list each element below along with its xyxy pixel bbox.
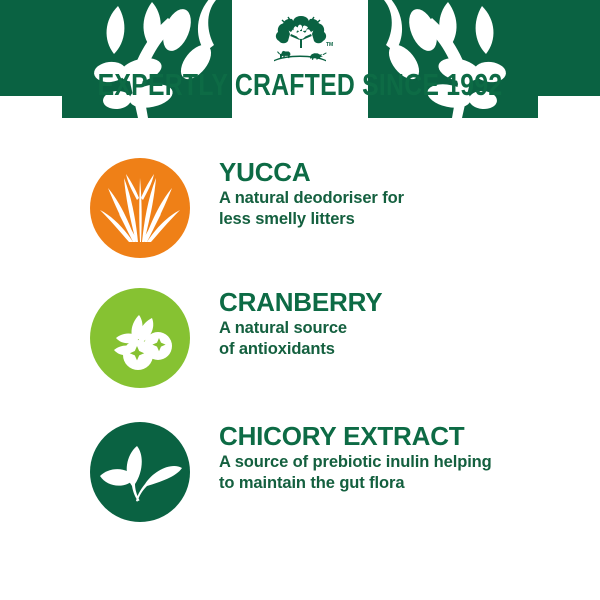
ingredient-benefits-infographic: TM EXPERTLY CRAFTED SINCE 1992 (0, 0, 600, 600)
feature-item-cranberry: CRANBERRY A natural source of antioxidan… (0, 288, 600, 398)
feature-item-yucca: YUCCA A natural deodoriser for less smel… (0, 158, 600, 268)
feature-text-cranberry: CRANBERRY A natural source of antioxidan… (219, 288, 589, 360)
feature-text-chicory-extract: CHICORY EXTRACT A source of prebiotic in… (219, 422, 589, 494)
tree-with-paw-print-logo: TM (266, 14, 334, 66)
trademark-mark: TM (326, 42, 333, 48)
chicory-leaves-icon (90, 422, 190, 522)
yucca-plant-icon (90, 158, 190, 258)
page-title: EXPERTLY CRAFTED SINCE 1992 (60, 68, 540, 102)
feature-description: A natural deodoriser for less smelly lit… (219, 188, 589, 230)
feature-text-yucca: YUCCA A natural deodoriser for less smel… (219, 158, 589, 230)
feature-description: A source of prebiotic inulin helping to … (219, 452, 589, 494)
feature-title: CHICORY EXTRACT (219, 422, 589, 450)
cranberry-berries-icon (90, 288, 190, 388)
feature-title: YUCCA (219, 158, 589, 186)
header-banner: TM EXPERTLY CRAFTED SINCE 1992 (0, 0, 600, 118)
feature-item-chicory-extract: CHICORY EXTRACT A source of prebiotic in… (0, 422, 600, 532)
feature-description: A natural source of antioxidants (219, 318, 589, 360)
feature-title: CRANBERRY (219, 288, 589, 316)
